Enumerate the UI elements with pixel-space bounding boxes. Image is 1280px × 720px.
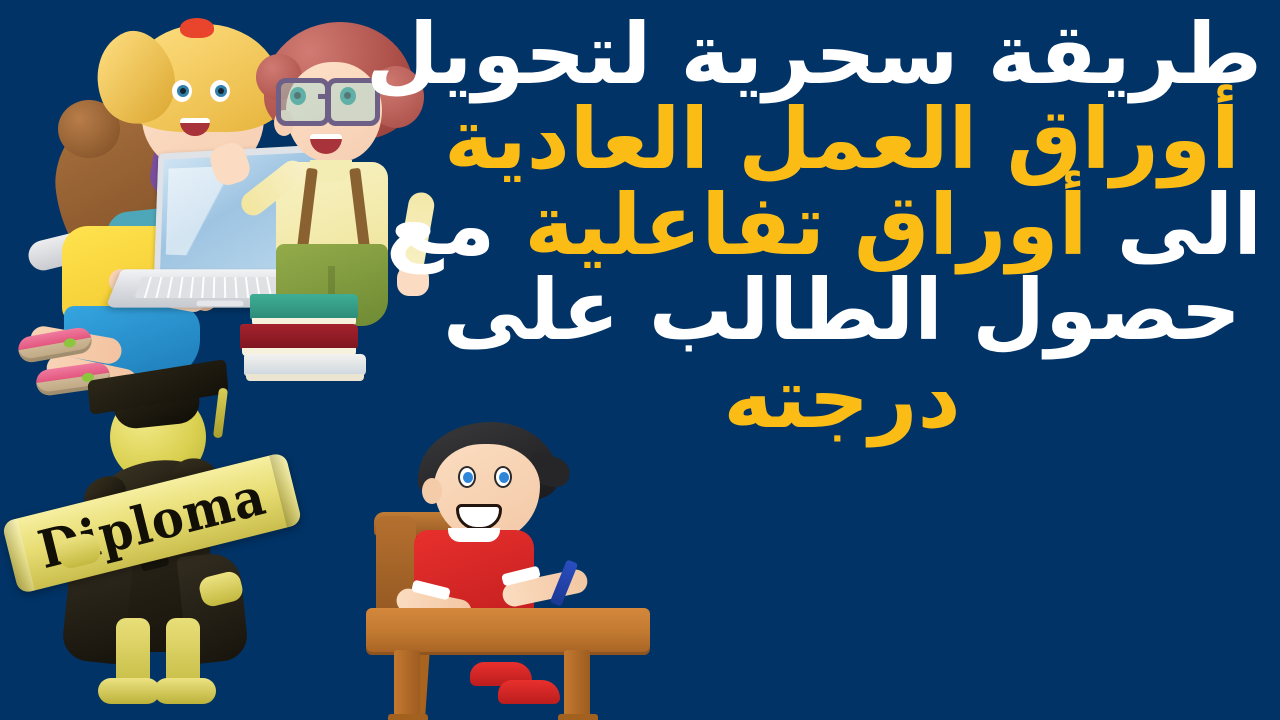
boy-glasses-side-hand — [397, 266, 429, 296]
desk-top-surface — [366, 608, 650, 652]
graduation-tassel — [213, 388, 228, 439]
headline-line-1: طريقة سحرية لتحويل — [422, 14, 1262, 95]
teal-book — [250, 294, 358, 320]
desk-boy-shoe-2 — [498, 680, 560, 704]
headline-line-2: أوراق العمل العادية — [422, 99, 1262, 180]
headline-line-4: حصول الطالب على — [422, 270, 1262, 351]
desk-foot-left — [388, 714, 428, 720]
eyeglasses-right-lens-icon — [326, 78, 380, 126]
boy-writing-at-desk-illustration — [352, 408, 662, 720]
desk-boy-left-eye — [458, 466, 476, 488]
desk-leg-left — [394, 650, 420, 720]
girl-left-eye — [172, 80, 192, 102]
headline-line-3-segment-1: الى — [1117, 176, 1262, 274]
graduate-with-diploma-illustration: Diploma — [4, 366, 304, 716]
desk-boy-right-eye — [494, 466, 512, 488]
graduate-foot-right — [154, 678, 216, 704]
eyeglasses-left-lens-icon — [276, 78, 330, 126]
headline-line-3-segment-2: أوراق تفاعلية — [524, 176, 1087, 274]
desk-leg-right — [564, 650, 590, 720]
girl-hair-bow — [180, 18, 214, 38]
boy-with-glasses-illustration — [248, 16, 423, 316]
desk-foot-right — [558, 714, 598, 720]
headline-line-3: الى أوراق تفاعلية مع — [422, 185, 1262, 266]
desk-boy-ear — [422, 478, 442, 504]
desk-boy-collar — [448, 528, 500, 542]
eyeglasses-bridge — [318, 94, 330, 99]
girl-right-eye — [210, 80, 230, 102]
poster-canvas: طريقة سحرية لتحويل أوراق العمل العادية ا… — [0, 0, 1280, 720]
red-book — [240, 324, 358, 350]
graduate-foot-left — [98, 678, 160, 704]
headline-text-block: طريقة سحرية لتحويل أوراق العمل العادية ا… — [422, 14, 1262, 439]
